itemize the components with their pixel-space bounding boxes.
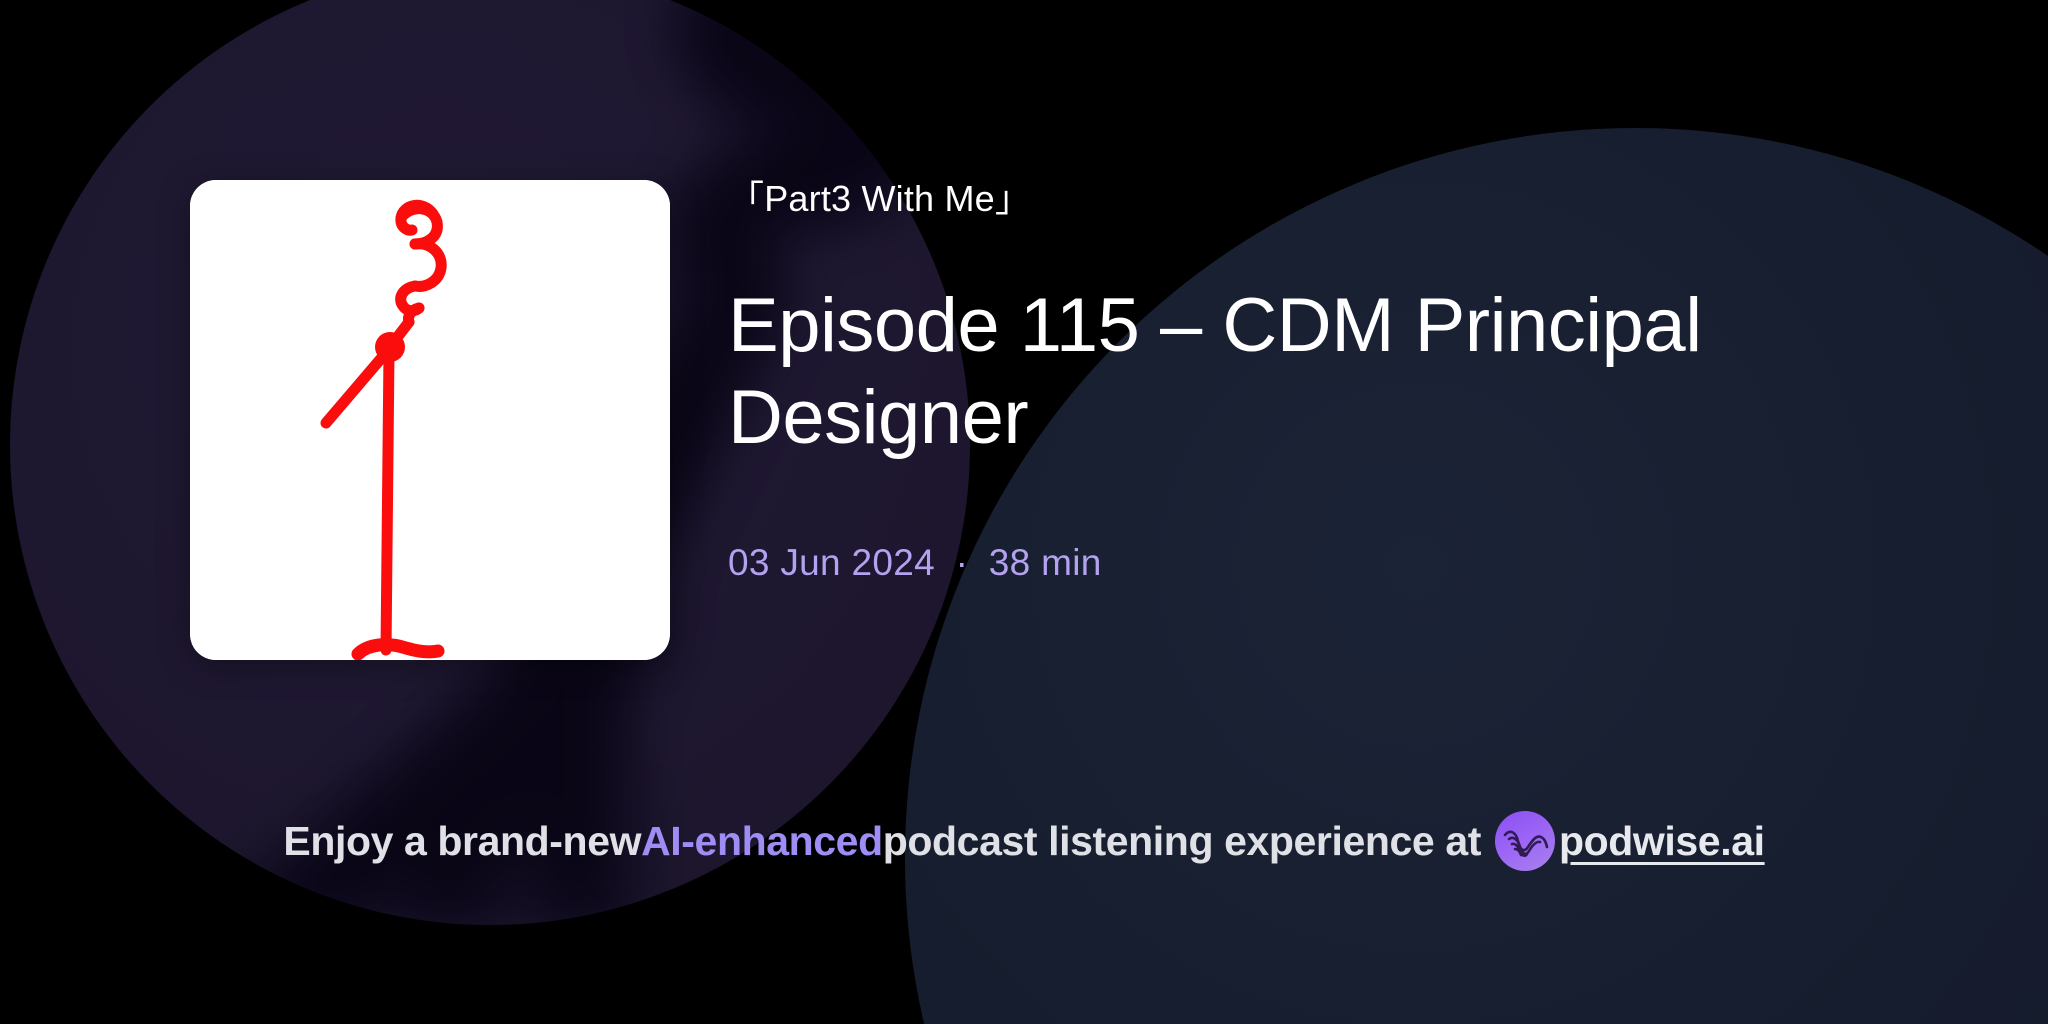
cover-art-container[interactable]	[190, 180, 670, 660]
episode-meta: 「Part3 With Me」 Episode 115 – CDM Princi…	[728, 176, 1848, 586]
show-name: 「Part3 With Me」	[728, 176, 1848, 222]
promo-accent-text: AI-enhanced	[641, 806, 883, 876]
separator-dot: ·	[946, 542, 979, 583]
podwise-waveform-icon	[1495, 811, 1555, 871]
episode-share-card: 「Part3 With Me」 Episode 115 – CDM Princi…	[0, 0, 2048, 1024]
podwise-link[interactable]: podwise.ai	[1559, 818, 1765, 865]
episode-date-duration: 03 Jun 2024 · 38 min	[728, 540, 1848, 586]
podwise-brand[interactable]: podwise.ai	[1481, 811, 1765, 871]
promo-lead-text: Enjoy a brand-new	[283, 806, 641, 876]
promo-tail-text: podcast listening experience at	[883, 806, 1481, 876]
cover-art-image	[190, 180, 670, 660]
episode-date: 03 Jun 2024	[728, 542, 935, 583]
episode-title: Episode 115 – CDM Principal Designer	[728, 280, 1728, 464]
episode-duration: 38 min	[989, 542, 1102, 583]
promo-banner: Enjoy a brand-new AI-enhanced podcast li…	[0, 806, 2048, 876]
